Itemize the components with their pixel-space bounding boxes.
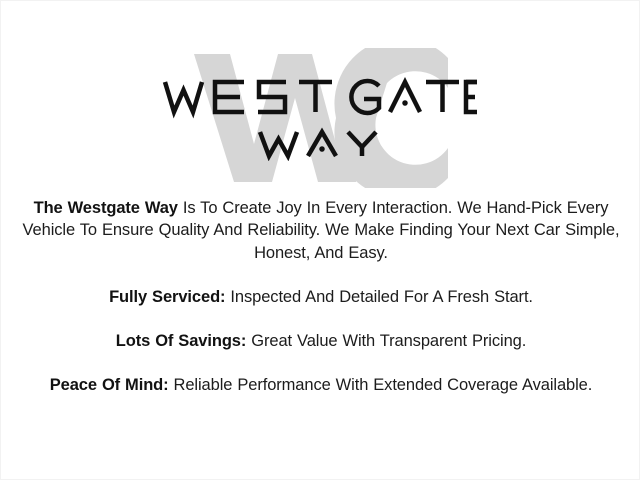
wordmark-westgate [161,75,481,119]
wordmark-way [256,127,386,161]
paragraph-text: Reliable Performance With Extended Cover… [169,376,593,394]
paragraph-lead: The Westgate Way [34,199,178,217]
paragraph-lead: Fully Serviced: [109,288,225,306]
westgate-way-info-card: The Westgate Way Is To Create Joy In Eve… [0,0,640,480]
paragraph-lead: Lots Of Savings: [116,332,247,350]
wordmark [1,45,640,190]
paragraph-westgate-way: The Westgate Way Is To Create Joy In Eve… [13,197,629,264]
paragraph-text: Great Value With Transparent Pricing. [246,332,526,350]
paragraph-text: Inspected And Detailed For A Fresh Start… [225,288,532,306]
body-copy: The Westgate Way Is To Create Joy In Eve… [1,197,640,397]
paragraph-lead: Peace Of Mind: [50,376,169,394]
paragraph-lots-of-savings: Lots Of Savings: Great Value With Transp… [13,330,629,352]
paragraph-peace-of-mind: Peace Of Mind: Reliable Performance With… [13,374,629,396]
logo-lockup [1,45,640,190]
paragraph-fully-serviced: Fully Serviced: Inspected And Detailed F… [13,286,629,308]
